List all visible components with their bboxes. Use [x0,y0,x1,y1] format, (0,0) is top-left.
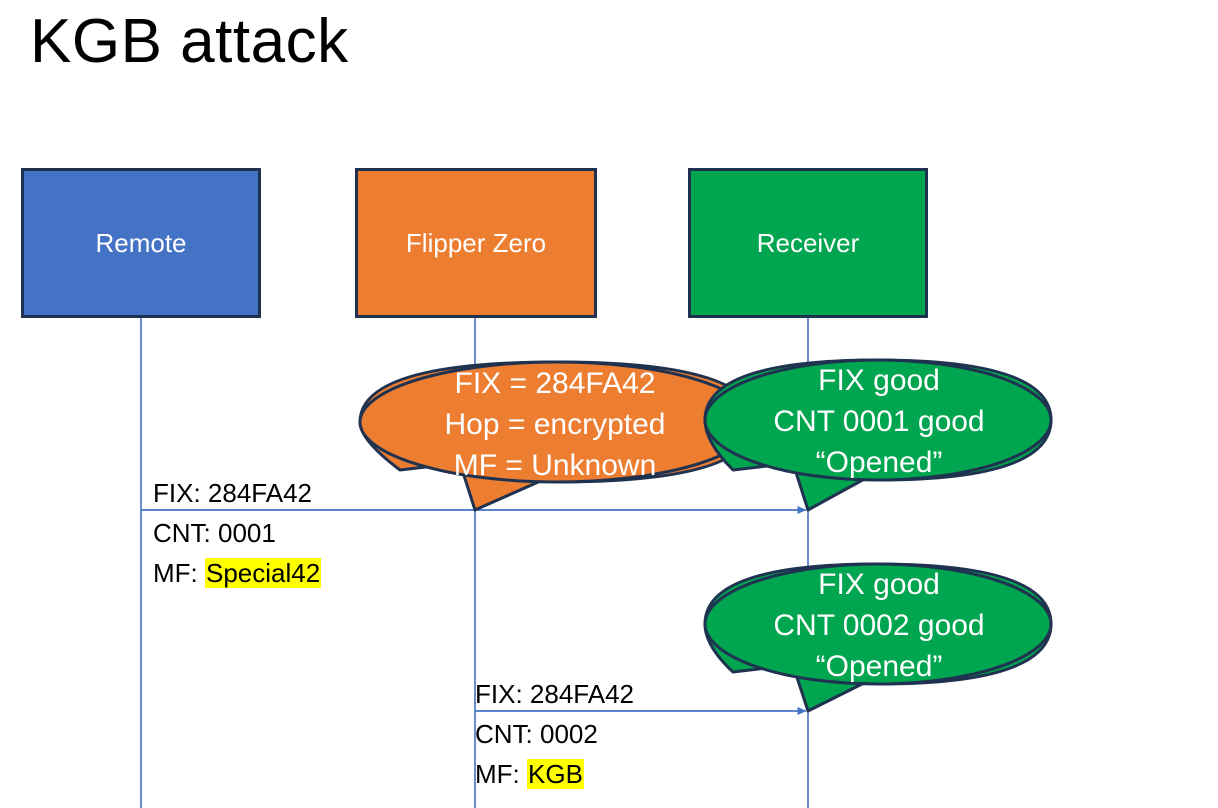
message-1-line-2: CNT: 0001 [153,513,321,553]
actor-label-flipper: Flipper Zero [406,228,546,259]
message-1-line-1: FIX: 284FA42 [153,473,321,513]
message-1-line-3-key: MF: [153,558,205,588]
message-1-line-3-value-highlight: Special42 [205,558,321,588]
actor-label-remote: Remote [95,228,186,259]
message-2-line-2: CNT: 0002 [475,714,634,754]
actor-box-flipper[interactable]: Flipper Zero [355,168,597,318]
message-2-label: FIX: 284FA42 CNT: 0002 MF: KGB [475,674,634,794]
message-2-line-3: MF: KGB [475,754,634,794]
message-1-line-1-value: 284FA42 [208,478,312,508]
message-1-line-3: MF: Special42 [153,553,321,593]
message-2-line-1: FIX: 284FA42 [475,674,634,714]
message-1-line-2-value: 0001 [218,518,276,548]
actor-box-receiver[interactable]: Receiver [688,168,928,318]
message-2-line-3-key: MF: [475,759,527,789]
message-2-line-2-key: CNT: [475,719,540,749]
slide-canvas: KGB attack [0,0,1218,808]
message-2-line-1-value: 284FA42 [530,679,634,709]
message-1-line-2-key: CNT: [153,518,218,548]
message-1-label: FIX: 284FA42 CNT: 0001 MF: Special42 [153,473,321,593]
actor-label-receiver: Receiver [757,228,860,259]
receiver-callout-1-shape [705,360,1051,510]
message-2-line-1-key: FIX: [475,679,530,709]
message-2-line-3-value-highlight: KGB [527,759,584,789]
receiver-callout-2-shape [705,564,1051,711]
message-2-line-2-value: 0002 [540,719,598,749]
message-1-line-1-key: FIX: [153,478,208,508]
flipper-callout-shape [360,362,754,510]
actor-box-remote[interactable]: Remote [21,168,261,318]
